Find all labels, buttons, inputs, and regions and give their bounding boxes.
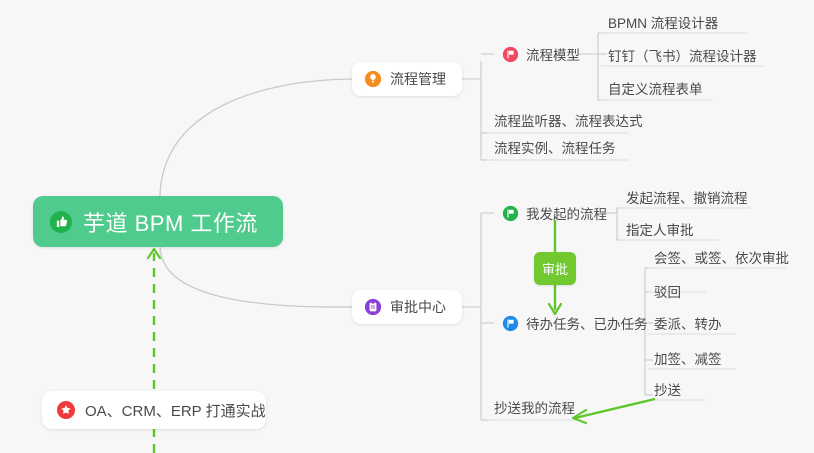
node-cc[interactable]: 抄送 — [646, 375, 689, 403]
node-process-management[interactable]: 流程管理 — [352, 62, 462, 96]
lightbulb-pin-icon — [364, 70, 382, 88]
node-bpmn-designer-label: BPMN 流程设计器 — [608, 12, 718, 32]
node-instance-task-label: 流程实例、流程任务 — [494, 137, 616, 157]
node-process-management-label: 流程管理 — [390, 69, 446, 89]
flag-icon-blue — [502, 315, 519, 332]
root-node[interactable]: 芋道 BPM 工作流 — [33, 196, 283, 247]
node-approval-center[interactable]: 审批中心 — [352, 290, 462, 324]
thumbs-up-icon — [49, 210, 73, 234]
flag-icon-green — [502, 205, 519, 222]
node-start-cancel-process-label: 发起流程、撤销流程 — [626, 187, 748, 207]
approval-tag-badge[interactable]: 审批 — [534, 252, 576, 285]
root-label: 芋道 BPM 工作流 — [83, 206, 258, 238]
node-countersign[interactable]: 会签、或签、依次审批 — [646, 243, 797, 271]
node-bpmn-designer[interactable]: BPMN 流程设计器 — [600, 8, 726, 36]
node-todo-done-tasks-label: 待办任务、已办任务 — [526, 313, 648, 333]
arrowhead-to-root — [148, 249, 160, 258]
node-cc-to-me[interactable]: 抄送我的流程 — [486, 393, 583, 421]
node-custom-form[interactable]: 自定义流程表单 — [600, 74, 711, 102]
node-listener-expression[interactable]: 流程监听器、流程表达式 — [486, 106, 651, 134]
node-todo-done-tasks[interactable]: 待办任务、已办任务 — [494, 309, 656, 337]
approval-tag-label: 审批 — [542, 259, 568, 278]
node-dingding-designer[interactable]: 钉钉（飞书）流程设计器 — [600, 41, 765, 69]
node-add-remove-sign-label: 加签、减签 — [654, 348, 722, 368]
clipboard-icon-purple — [364, 298, 382, 316]
node-process-model-label: 流程模型 — [526, 44, 580, 64]
flag-icon-red — [502, 46, 519, 63]
node-custom-form-label: 自定义流程表单 — [608, 78, 703, 98]
mindmap-canvas: 芋道 BPM 工作流 流程管理 流程模型 BPMN 流程设计器 钉钉（飞书）流程 — [0, 0, 814, 453]
node-reject-label: 驳回 — [654, 281, 681, 301]
node-process-model[interactable]: 流程模型 — [494, 40, 588, 68]
node-delegate-transfer[interactable]: 委派、转办 — [646, 309, 730, 337]
node-approval-center-label: 审批中心 — [390, 297, 446, 317]
node-my-started-processes-label: 我发起的流程 — [526, 203, 607, 223]
node-my-started-processes[interactable]: 我发起的流程 — [494, 199, 615, 227]
node-listener-expression-label: 流程监听器、流程表达式 — [494, 110, 643, 130]
node-dingding-designer-label: 钉钉（飞书）流程设计器 — [608, 45, 757, 65]
node-countersign-label: 会签、或签、依次审批 — [654, 247, 789, 267]
node-add-remove-sign[interactable]: 加签、减签 — [646, 344, 730, 372]
node-cc-to-me-label: 抄送我的流程 — [494, 397, 575, 417]
node-delegate-transfer-label: 委派、转办 — [654, 313, 722, 333]
node-assignee-approve-label: 指定人审批 — [626, 219, 694, 239]
node-integration-practice[interactable]: OA、CRM、ERP 打通实战 — [42, 391, 266, 429]
connector-root-to-approval-center — [160, 247, 352, 307]
connector-root-to-process-management — [160, 79, 352, 196]
node-assignee-approve[interactable]: 指定人审批 — [618, 215, 702, 243]
node-cc-label: 抄送 — [654, 379, 681, 399]
star-icon-red — [56, 400, 76, 420]
node-reject[interactable]: 驳回 — [646, 277, 689, 305]
node-start-cancel-process[interactable]: 发起流程、撤销流程 — [618, 183, 756, 211]
arrow-cc-to-cc-to-me — [575, 399, 655, 418]
node-instance-task[interactable]: 流程实例、流程任务 — [486, 133, 624, 161]
node-integration-practice-label: OA、CRM、ERP 打通实战 — [85, 400, 266, 421]
